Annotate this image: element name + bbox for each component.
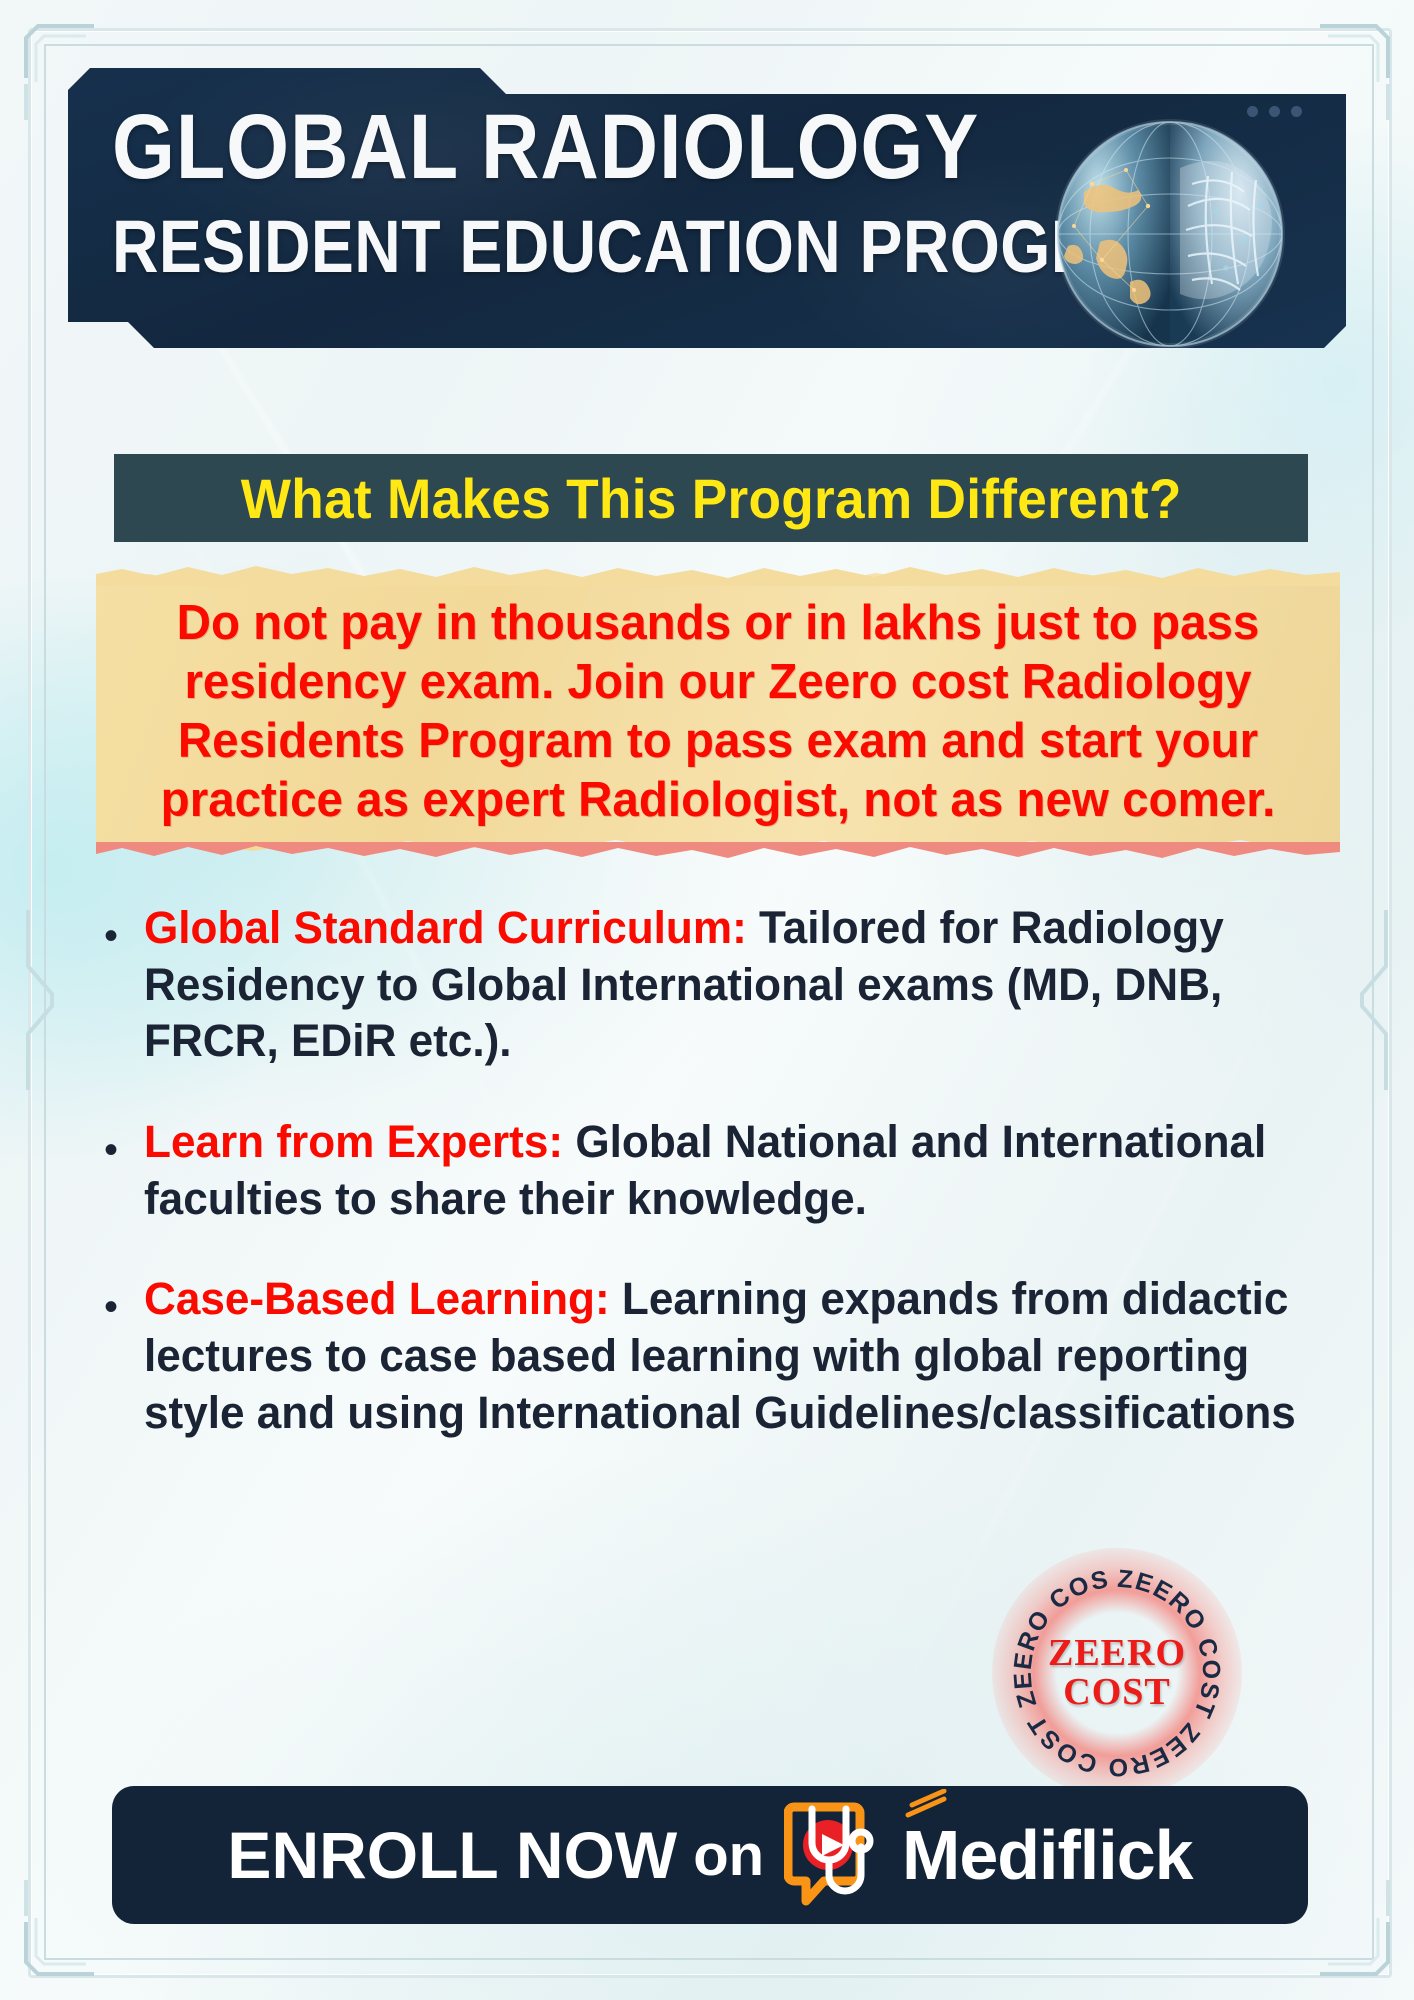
list-item-highlight: Case-Based Learning: xyxy=(144,1273,610,1324)
window-dot-icon xyxy=(1291,106,1302,117)
features-list: • Global Standard Curriculum: Tailored f… xyxy=(104,900,1324,1486)
bullet-marker-icon: • xyxy=(104,1271,144,1441)
list-item-text: Case-Based Learning: Learning expands fr… xyxy=(144,1271,1300,1441)
globe-brain-icon xyxy=(1030,114,1310,348)
section-heading-bar: What Makes This Program Different? xyxy=(114,454,1308,542)
mediflick-play-stethoscope-icon xyxy=(784,1801,894,1909)
cta-action-label: ENROLL NOW xyxy=(227,1817,677,1893)
bullet-marker-icon: • xyxy=(104,1114,144,1227)
bullet-marker-icon: • xyxy=(104,900,144,1070)
cta-connector-label: on xyxy=(693,1822,764,1889)
poster-canvas: GLOBAL RADIOLOGY RESIDENT EDUCATION PROG… xyxy=(0,0,1414,2000)
stamp-line-1: ZEERO xyxy=(1048,1634,1186,1673)
section-heading-text: What Makes This Program Different? xyxy=(241,466,1182,531)
list-item-highlight: Learn from Experts: xyxy=(144,1116,563,1167)
window-dots xyxy=(1247,106,1302,117)
highlight-callout: Do not pay in thousands or in lakhs just… xyxy=(96,566,1340,858)
enroll-cta-button[interactable]: ENROLL NOW on xyxy=(112,1786,1308,1924)
wifi-arc-icon xyxy=(898,1789,954,1819)
highlight-text: Do not pay in thousands or in lakhs just… xyxy=(160,594,1276,829)
list-item-text: Global Standard Curriculum: Tailored for… xyxy=(144,900,1300,1070)
window-dot-icon xyxy=(1269,106,1280,117)
stamp-center-text: ZEERO COST xyxy=(992,1548,1242,1798)
list-item: • Case-Based Learning: Learning expands … xyxy=(104,1271,1324,1441)
window-dot-icon xyxy=(1247,106,1258,117)
list-item-text: Learn from Experts: Global National and … xyxy=(144,1114,1300,1227)
zeero-cost-stamp: ZEERO COST ZEERO COST ZEERO COST ZEERO C… xyxy=(992,1548,1242,1798)
poster-header: GLOBAL RADIOLOGY RESIDENT EDUCATION PROG… xyxy=(68,68,1346,348)
brand-name: Mediflick xyxy=(902,1815,1193,1895)
list-item-highlight: Global Standard Curriculum: xyxy=(144,902,747,953)
list-item: • Global Standard Curriculum: Tailored f… xyxy=(104,900,1324,1070)
list-item: • Learn from Experts: Global National an… xyxy=(104,1114,1324,1227)
stamp-line-2: COST xyxy=(1063,1673,1170,1712)
